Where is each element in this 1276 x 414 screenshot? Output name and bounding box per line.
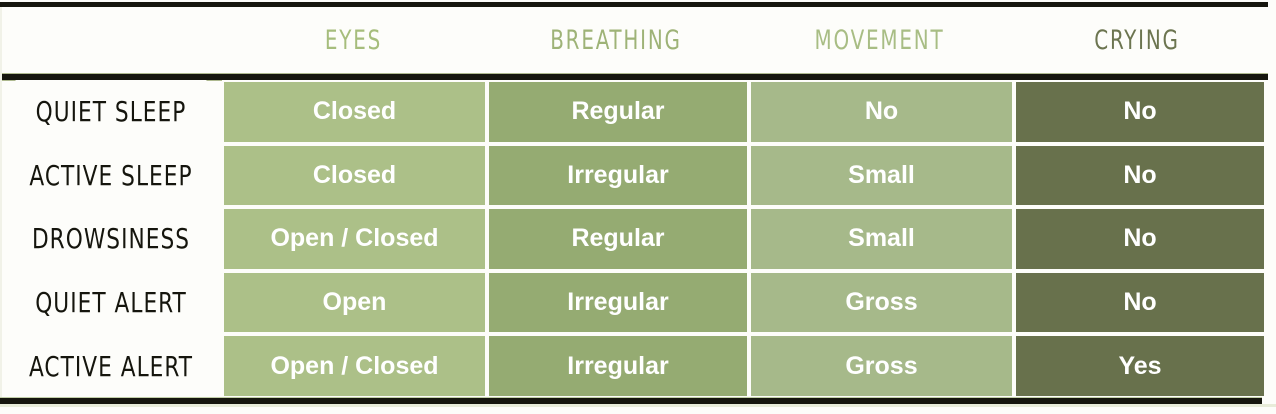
row-right-edge (1266, 271, 1276, 335)
table-body: QUIET SLEEP Closed Regular No No ACTIVE … (0, 80, 1276, 398)
cell-active-alert-crying: Yes (1014, 334, 1266, 398)
cell-drowsiness-breathing: Regular (487, 207, 749, 271)
row-right-edge (1266, 80, 1276, 144)
column-header-eyes: EYES (246, 7, 462, 73)
cell-quiet-sleep-breathing: Regular (487, 80, 749, 144)
bottom-divider-rule (0, 397, 1262, 404)
row-label-drowsiness: DROWSINESS (16, 207, 207, 271)
cell-active-alert-movement: Gross (749, 334, 1014, 398)
column-header-crying: CRYING (1035, 7, 1240, 73)
column-header-movement: MOVEMENT (771, 7, 988, 73)
behavioral-states-table: EYES BREATHING MOVEMENT CRYING QUIET SLE… (0, 0, 1276, 414)
table-row: DROWSINESS Open / Closed Regular Small N… (0, 207, 1276, 271)
cell-quiet-sleep-movement: No (749, 80, 1014, 144)
cell-quiet-alert-crying: No (1014, 271, 1266, 335)
row-label-active-sleep: ACTIVE SLEEP (16, 144, 207, 208)
table-row: QUIET SLEEP Closed Regular No No (0, 80, 1276, 144)
column-header-breathing: BREATHING (509, 7, 724, 73)
table-row: ACTIVE SLEEP Closed Irregular Small No (0, 144, 1276, 208)
cell-active-sleep-breathing: Irregular (487, 144, 749, 208)
cell-quiet-alert-breathing: Irregular (487, 271, 749, 335)
cell-active-sleep-movement: Small (749, 144, 1014, 208)
cell-quiet-alert-movement: Gross (749, 271, 1014, 335)
cell-active-sleep-crying: No (1014, 144, 1266, 208)
cell-active-alert-eyes: Open / Closed (222, 334, 487, 398)
row-right-edge (1266, 334, 1276, 398)
cell-drowsiness-eyes: Open / Closed (222, 207, 487, 271)
cell-active-alert-breathing: Irregular (487, 334, 749, 398)
table-row: ACTIVE ALERT Open / Closed Irregular Gro… (0, 334, 1276, 398)
cell-drowsiness-crying: No (1014, 207, 1266, 271)
row-label-active-alert: ACTIVE ALERT (16, 334, 207, 398)
row-label-quiet-alert: QUIET ALERT (16, 271, 207, 335)
row-right-edge (1266, 144, 1276, 208)
cell-quiet-sleep-crying: No (1014, 80, 1266, 144)
cell-quiet-sleep-eyes: Closed (222, 80, 487, 144)
row-label-quiet-sleep: QUIET SLEEP (16, 80, 207, 144)
table-row: QUIET ALERT Open Irregular Gross No (0, 271, 1276, 335)
cell-drowsiness-movement: Small (749, 207, 1014, 271)
cell-quiet-alert-eyes: Open (222, 271, 487, 335)
row-right-edge (1266, 207, 1276, 271)
table-header-row: EYES BREATHING MOVEMENT CRYING (222, 7, 1262, 73)
cell-active-sleep-eyes: Closed (222, 144, 487, 208)
bottom-highlight-line (0, 404, 1276, 407)
